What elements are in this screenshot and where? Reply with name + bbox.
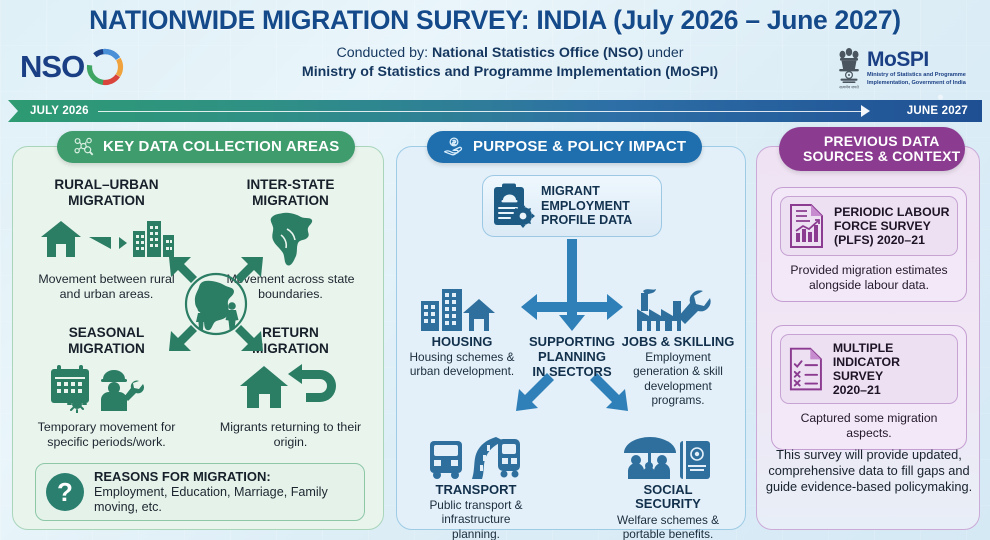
migration-hub-icon — [161, 251, 271, 357]
inter-state-title-line2: MIGRATION — [213, 193, 368, 209]
mep-line1: MIGRANT — [541, 184, 632, 199]
hub-line2: PLANNING — [513, 350, 631, 365]
house-to-city-arrow-icon — [37, 217, 177, 263]
question-mark-icon: ? — [46, 473, 84, 511]
previous-data-sources-badge-label: PREVIOUS DATA SOURCES & CONTEXT — [803, 134, 960, 163]
calendar-worker-icon — [47, 363, 167, 413]
mospi-logo-subtext: Ministry of Statistics and Programme Imp… — [867, 72, 976, 87]
timeline-start-label: JULY 2026 — [30, 100, 89, 122]
document-checklist-icon — [788, 346, 825, 392]
mospi-logo: सत्यमेव जयते MoSPI Ministry of Statistic… — [836, 42, 976, 94]
seasonal-desc: Temporary movement for specific periods/… — [29, 420, 184, 450]
sector-housing: HOUSING Housing schemes & urban developm… — [403, 287, 521, 379]
timeline-arrow-icon — [861, 105, 870, 117]
mis-title-line3: 2020–21 — [833, 383, 950, 397]
mis-note: Captured some migration aspects. — [780, 411, 958, 440]
sector-social-security: SOCIAL SECURITY Welfare schemes & portab… — [609, 435, 727, 540]
conducted-by-line1: Conducted by: National Statistics Office… — [240, 44, 780, 63]
jobs-title: JOBS & SKILLING — [619, 335, 737, 349]
jobs-desc: Employment generation & skill developmen… — [619, 350, 737, 407]
rural-urban-title-line2: MIGRATION — [29, 193, 184, 209]
previous-data-sources-badge: PREVIOUS DATA SOURCES & CONTEXT — [779, 127, 965, 171]
supporting-planning-label: SUPPORTING PLANNING IN SECTORS — [513, 335, 631, 379]
mep-line3: PROFILE DATA — [541, 213, 632, 228]
social-security-title: SOCIAL SECURITY — [609, 483, 727, 512]
panels-container: KEY DATA COLLECTION AREAS RURAL–URBAN MI… — [0, 128, 990, 540]
page-title: NATIONWIDE MIGRATION SURVEY: INDIA (July… — [0, 5, 990, 36]
conducted-suffix: under — [643, 45, 683, 61]
plfs-title: PERIODIC LABOUR FORCE SURVEY (PLFS) 2020… — [834, 205, 949, 247]
conducted-org: National Statistics Office (NSO) — [432, 45, 643, 61]
hand-money-icon — [443, 136, 465, 158]
umbrella-family-pension-icon — [620, 435, 716, 481]
network-analysis-icon — [73, 136, 95, 158]
closing-statement: This survey will provide updated, compre… — [765, 447, 973, 495]
hub-line3: IN SECTORS — [513, 365, 631, 380]
nso-wheel-icon — [85, 47, 125, 87]
badge-line2: SOURCES & CONTEXT — [803, 148, 960, 164]
nso-logo: NSO — [20, 45, 135, 89]
emblem-caption: सत्यमेव जयते — [839, 85, 859, 90]
return-desc: Migrants returning to their origin. — [213, 420, 368, 450]
india-map-icon — [265, 211, 317, 269]
reasons-for-migration-box: ? REASONS FOR MIGRATION: Employment, Edu… — [35, 463, 365, 521]
sector-transport: TRANSPORT Public transport & infrastruct… — [417, 435, 535, 540]
mis-title: MULTIPLE INDICATOR SURVEY 2020–21 — [833, 341, 950, 397]
social-security-desc: Welfare schemes & portable benefits. — [609, 513, 727, 540]
badge-line1: PREVIOUS DATA — [824, 133, 940, 149]
source-card-plfs: PERIODIC LABOUR FORCE SURVEY (PLFS) 2020… — [771, 187, 967, 302]
purpose-policy-badge-label: PURPOSE & POLICY IMPACT — [473, 139, 686, 155]
infographic-canvas: NATIONWIDE MIGRATION SURVEY: INDIA (July… — [0, 0, 990, 540]
conducted-by-block: Conducted by: National Statistics Office… — [240, 44, 780, 81]
sector-jobs-skilling: JOBS & SKILLING Employment generation & … — [619, 287, 737, 407]
plfs-note: Provided migration estimates alongside l… — [780, 263, 958, 292]
survey-timeline: JULY 2026 JUNE 2027 — [8, 100, 982, 122]
reasons-title: REASONS FOR MIGRATION: — [94, 469, 354, 485]
key-data-collection-panel: KEY DATA COLLECTION AREAS RURAL–URBAN MI… — [12, 146, 384, 530]
mospi-logo-text: MoSPI — [867, 49, 976, 70]
source-card-mis: MULTIPLE INDICATOR SURVEY 2020–21 Captur… — [771, 325, 967, 450]
mis-title-line1: MULTIPLE — [833, 341, 950, 355]
document-chart-icon — [788, 203, 826, 249]
reasons-body: Employment, Education, Marriage, Family … — [94, 485, 354, 515]
inter-state-title-line1: INTER-STATE — [213, 177, 368, 193]
nso-logo-text: NSO — [20, 49, 84, 85]
header: NATIONWIDE MIGRATION SURVEY: INDIA (July… — [0, 0, 990, 95]
ashoka-emblem-icon: सत्यमेव जयते — [836, 45, 862, 91]
housing-title: HOUSING — [403, 335, 521, 349]
mep-line2: EMPLOYMENT — [541, 199, 632, 214]
clipboard-helmet-gear-icon — [491, 183, 535, 229]
conducted-by-line2: Ministry of Statistics and Programme Imp… — [240, 63, 780, 82]
previous-data-sources-panel: PREVIOUS DATA SOURCES & CONTEXT — [756, 146, 980, 530]
buildings-house-icon — [419, 287, 505, 333]
purpose-policy-impact-panel: PURPOSE & POLICY IMPACT — [396, 146, 746, 530]
timeline-end-label: JUNE 2027 — [907, 100, 968, 122]
transport-title: TRANSPORT — [417, 483, 535, 497]
rural-urban-title-line1: RURAL–URBAN — [29, 177, 184, 193]
conducted-prefix: Conducted by: — [337, 45, 432, 61]
key-data-collection-badge-label: KEY DATA COLLECTION AREAS — [103, 139, 339, 155]
migrant-employment-profile-box: MIGRANT EMPLOYMENT PROFILE DATA — [482, 175, 662, 237]
transport-desc: Public transport & infrastructure planni… — [417, 498, 535, 540]
plfs-title-line1: PERIODIC LABOUR — [834, 205, 949, 219]
mis-title-line2: INDICATOR SURVEY — [833, 355, 950, 383]
key-data-collection-badge: KEY DATA COLLECTION AREAS — [57, 131, 355, 163]
bus-train-road-icon — [428, 435, 524, 481]
migrant-employment-profile-label: MIGRANT EMPLOYMENT PROFILE DATA — [541, 184, 632, 229]
plfs-title-line2: FORCE SURVEY — [834, 219, 949, 233]
timeline-connector-line — [98, 111, 862, 113]
hub-line1: SUPPORTING — [513, 335, 631, 350]
plfs-title-line3: (PLFS) 2020–21 — [834, 233, 949, 247]
factory-wrench-icon — [633, 287, 723, 333]
house-return-arrow-icon — [236, 364, 346, 412]
housing-desc: Housing schemes & urban development. — [403, 350, 521, 378]
purpose-policy-badge: PURPOSE & POLICY IMPACT — [427, 131, 702, 163]
